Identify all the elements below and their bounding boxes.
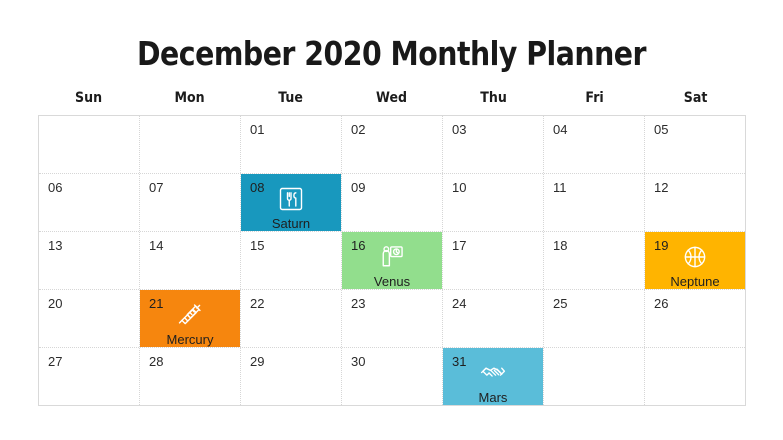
day-cell-17[interactable]: 17 bbox=[443, 232, 544, 289]
event-label: Mercury bbox=[167, 333, 214, 347]
day-number: 12 bbox=[654, 181, 668, 194]
day-number: 29 bbox=[250, 355, 264, 368]
day-cell-26[interactable]: 26 bbox=[645, 290, 745, 347]
basketball-icon bbox=[680, 242, 710, 272]
weekday-header-row: SunMonTueWedThuFriSat bbox=[38, 90, 746, 106]
day-cell-05[interactable]: 05 bbox=[645, 116, 745, 173]
event-block-mercury[interactable]: 21Mercury bbox=[140, 290, 240, 347]
day-number: 15 bbox=[250, 239, 264, 252]
day-number: 20 bbox=[48, 297, 62, 310]
calendar-week-row: 060708Saturn09101112 bbox=[39, 174, 745, 232]
day-number: 27 bbox=[48, 355, 62, 368]
day-number: 06 bbox=[48, 181, 62, 194]
event-block-neptune[interactable]: 19Neptune bbox=[645, 232, 745, 289]
day-cell-24[interactable]: 24 bbox=[443, 290, 544, 347]
day-number: 01 bbox=[250, 123, 264, 136]
day-cell-13[interactable]: 13 bbox=[39, 232, 140, 289]
day-number: 09 bbox=[351, 181, 365, 194]
day-number: 30 bbox=[351, 355, 365, 368]
day-cell-16[interactable]: 16Venus bbox=[342, 232, 443, 289]
weekday-label-sun: Sun bbox=[43, 90, 134, 106]
day-number: 13 bbox=[48, 239, 62, 252]
day-number: 08 bbox=[250, 181, 264, 194]
day-cell-01[interactable]: 01 bbox=[241, 116, 342, 173]
day-cell-empty[interactable] bbox=[645, 348, 745, 405]
syringe-icon bbox=[175, 300, 205, 330]
day-number: 04 bbox=[553, 123, 567, 136]
day-number: 17 bbox=[452, 239, 466, 252]
day-cell-empty[interactable] bbox=[39, 116, 140, 173]
day-cell-04[interactable]: 04 bbox=[544, 116, 645, 173]
day-cell-11[interactable]: 11 bbox=[544, 174, 645, 231]
day-cell-03[interactable]: 03 bbox=[443, 116, 544, 173]
day-cell-09[interactable]: 09 bbox=[342, 174, 443, 231]
weekday-label-sat: Sat bbox=[650, 90, 741, 106]
day-number: 16 bbox=[351, 239, 365, 252]
day-number: 02 bbox=[351, 123, 365, 136]
day-cell-29[interactable]: 29 bbox=[241, 348, 342, 405]
day-number: 26 bbox=[654, 297, 668, 310]
weekday-label-tue: Tue bbox=[245, 90, 336, 106]
weekday-label-wed: Wed bbox=[346, 90, 437, 106]
handshake-icon bbox=[478, 358, 508, 388]
event-label: Venus bbox=[374, 275, 410, 289]
day-number: 18 bbox=[553, 239, 567, 252]
calendar-week-row: 13141516Venus171819Neptune bbox=[39, 232, 745, 290]
day-cell-02[interactable]: 02 bbox=[342, 116, 443, 173]
event-block-saturn[interactable]: 08Saturn bbox=[241, 174, 341, 231]
day-cell-31[interactable]: 31Mars bbox=[443, 348, 544, 405]
event-block-venus[interactable]: 16Venus bbox=[342, 232, 442, 289]
page-title: December 2020 Monthly Planner bbox=[55, 34, 728, 73]
day-number: 05 bbox=[654, 123, 668, 136]
day-cell-27[interactable]: 27 bbox=[39, 348, 140, 405]
weekday-label-mon: Mon bbox=[144, 90, 235, 106]
event-label: Mars bbox=[479, 391, 508, 405]
presentation-clock-icon bbox=[377, 242, 407, 272]
day-cell-empty[interactable] bbox=[544, 348, 645, 405]
day-cell-25[interactable]: 25 bbox=[544, 290, 645, 347]
day-cell-14[interactable]: 14 bbox=[140, 232, 241, 289]
day-number: 23 bbox=[351, 297, 365, 310]
day-cell-21[interactable]: 21Mercury bbox=[140, 290, 241, 347]
day-cell-20[interactable]: 20 bbox=[39, 290, 140, 347]
calendar-week-row: 2021Mercury2223242526 bbox=[39, 290, 745, 348]
day-number: 31 bbox=[452, 355, 466, 368]
restaurant-icon bbox=[276, 184, 306, 214]
day-cell-15[interactable]: 15 bbox=[241, 232, 342, 289]
day-cell-28[interactable]: 28 bbox=[140, 348, 241, 405]
calendar-week-row: 0102030405 bbox=[39, 116, 745, 174]
weekday-label-thu: Thu bbox=[448, 90, 539, 106]
day-number: 28 bbox=[149, 355, 163, 368]
day-number: 10 bbox=[452, 181, 466, 194]
monthly-planner: December 2020 Monthly Planner SunMonTueW… bbox=[0, 0, 783, 440]
day-cell-22[interactable]: 22 bbox=[241, 290, 342, 347]
day-number: 03 bbox=[452, 123, 466, 136]
day-cell-06[interactable]: 06 bbox=[39, 174, 140, 231]
weekday-label-fri: Fri bbox=[549, 90, 640, 106]
event-label: Neptune bbox=[670, 275, 719, 289]
day-cell-10[interactable]: 10 bbox=[443, 174, 544, 231]
day-number: 21 bbox=[149, 297, 163, 310]
day-cell-08[interactable]: 08Saturn bbox=[241, 174, 342, 231]
event-block-mars[interactable]: 31Mars bbox=[443, 348, 543, 405]
calendar-week-row: 2728293031Mars bbox=[39, 348, 745, 405]
day-cell-18[interactable]: 18 bbox=[544, 232, 645, 289]
day-number: 25 bbox=[553, 297, 567, 310]
day-number: 07 bbox=[149, 181, 163, 194]
day-number: 19 bbox=[654, 239, 668, 252]
day-cell-empty[interactable] bbox=[140, 116, 241, 173]
day-number: 24 bbox=[452, 297, 466, 310]
day-cell-23[interactable]: 23 bbox=[342, 290, 443, 347]
day-cell-19[interactable]: 19Neptune bbox=[645, 232, 745, 289]
day-cell-12[interactable]: 12 bbox=[645, 174, 745, 231]
calendar-grid: 0102030405060708Saturn0910111213141516Ve… bbox=[38, 115, 746, 406]
day-cell-30[interactable]: 30 bbox=[342, 348, 443, 405]
day-number: 11 bbox=[553, 181, 567, 194]
event-label: Saturn bbox=[272, 217, 310, 231]
day-number: 22 bbox=[250, 297, 264, 310]
day-number: 14 bbox=[149, 239, 163, 252]
day-cell-07[interactable]: 07 bbox=[140, 174, 241, 231]
